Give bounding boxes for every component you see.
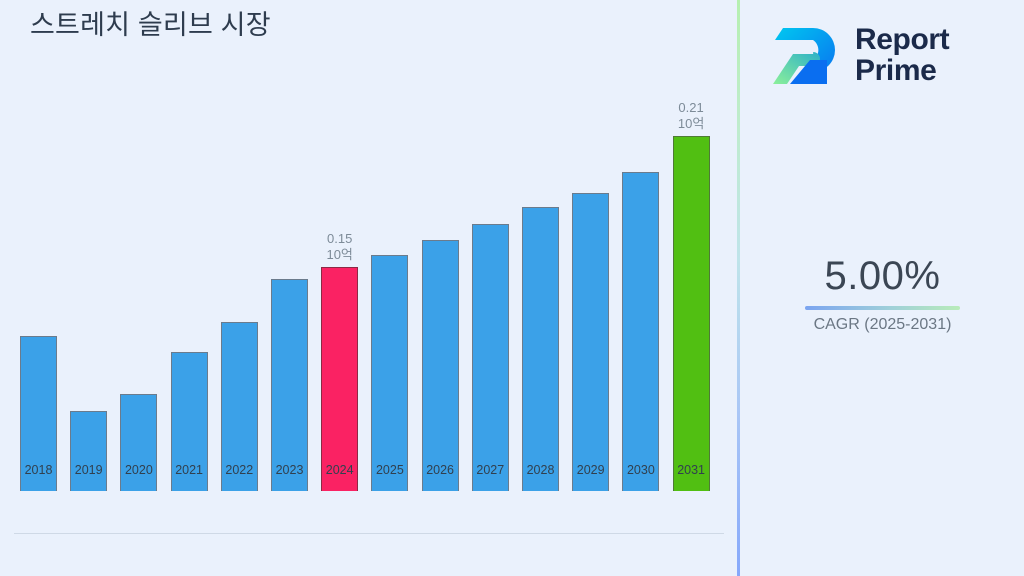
x-axis-tick-2026: 2026 [426, 463, 454, 477]
brand-name-line2: Prime [855, 55, 949, 86]
bar-2026[interactable] [422, 240, 459, 491]
brand-name: Report Prime [855, 24, 949, 86]
x-axis-tick-2031: 2031 [677, 463, 705, 477]
cagr-block: 5.00% CAGR (2025-2031) [741, 252, 1024, 336]
x-axis-tick-2022: 2022 [225, 463, 253, 477]
bar-2024[interactable] [321, 267, 358, 491]
panel-divider [737, 0, 740, 576]
bar-2023[interactable] [271, 279, 308, 491]
slide-root: 스트레치 슬리브 시장 2018201920202021202220230.15… [0, 0, 1024, 576]
cagr-value: 5.00% [741, 252, 1024, 300]
bar-2028[interactable] [522, 207, 559, 491]
bar-2025[interactable] [371, 255, 408, 491]
bar-2019[interactable] [70, 411, 107, 491]
x-axis-tick-2019: 2019 [75, 463, 103, 477]
cagr-caption: CAGR (2025-2031) [741, 314, 1024, 336]
bar-2031[interactable] [673, 136, 710, 491]
x-axis-tick-2030: 2030 [627, 463, 655, 477]
bar-value-number: 0.21 [678, 100, 704, 116]
bar-value-number: 0.15 [326, 231, 352, 247]
brand-name-line1: Report [855, 24, 949, 55]
bar-2030[interactable] [622, 172, 659, 491]
side-panel: Report Prime 5.00% CAGR (2025-2031) [741, 0, 1024, 576]
x-axis-tick-2023: 2023 [276, 463, 304, 477]
x-axis-tick-2018: 2018 [25, 463, 53, 477]
x-axis-tick-2027: 2027 [476, 463, 504, 477]
x-axis-tick-2028: 2028 [527, 463, 555, 477]
bar-chart-plot-area: 2018201920202021202220230.1510억202420252… [0, 0, 738, 534]
x-axis-tick-2021: 2021 [175, 463, 203, 477]
chart-panel: 스트레치 슬리브 시장 2018201920202021202220230.15… [0, 0, 738, 576]
bar-value-unit: 10억 [326, 247, 352, 263]
x-axis-tick-2024: 2024 [326, 463, 354, 477]
x-axis-line [14, 533, 724, 534]
brand-logo: Report Prime [769, 16, 1007, 94]
cagr-divider-rule [805, 306, 960, 310]
x-axis-tick-2025: 2025 [376, 463, 404, 477]
bar-2027[interactable] [472, 224, 509, 491]
report-prime-logo-icon [769, 22, 845, 88]
bar-2029[interactable] [572, 193, 609, 491]
bar-value-label-2031: 0.2110억 [678, 100, 704, 132]
bar-value-label-2024: 0.1510억 [326, 231, 352, 263]
x-axis-tick-2020: 2020 [125, 463, 153, 477]
bar-value-unit: 10억 [678, 116, 704, 132]
x-axis-tick-2029: 2029 [577, 463, 605, 477]
